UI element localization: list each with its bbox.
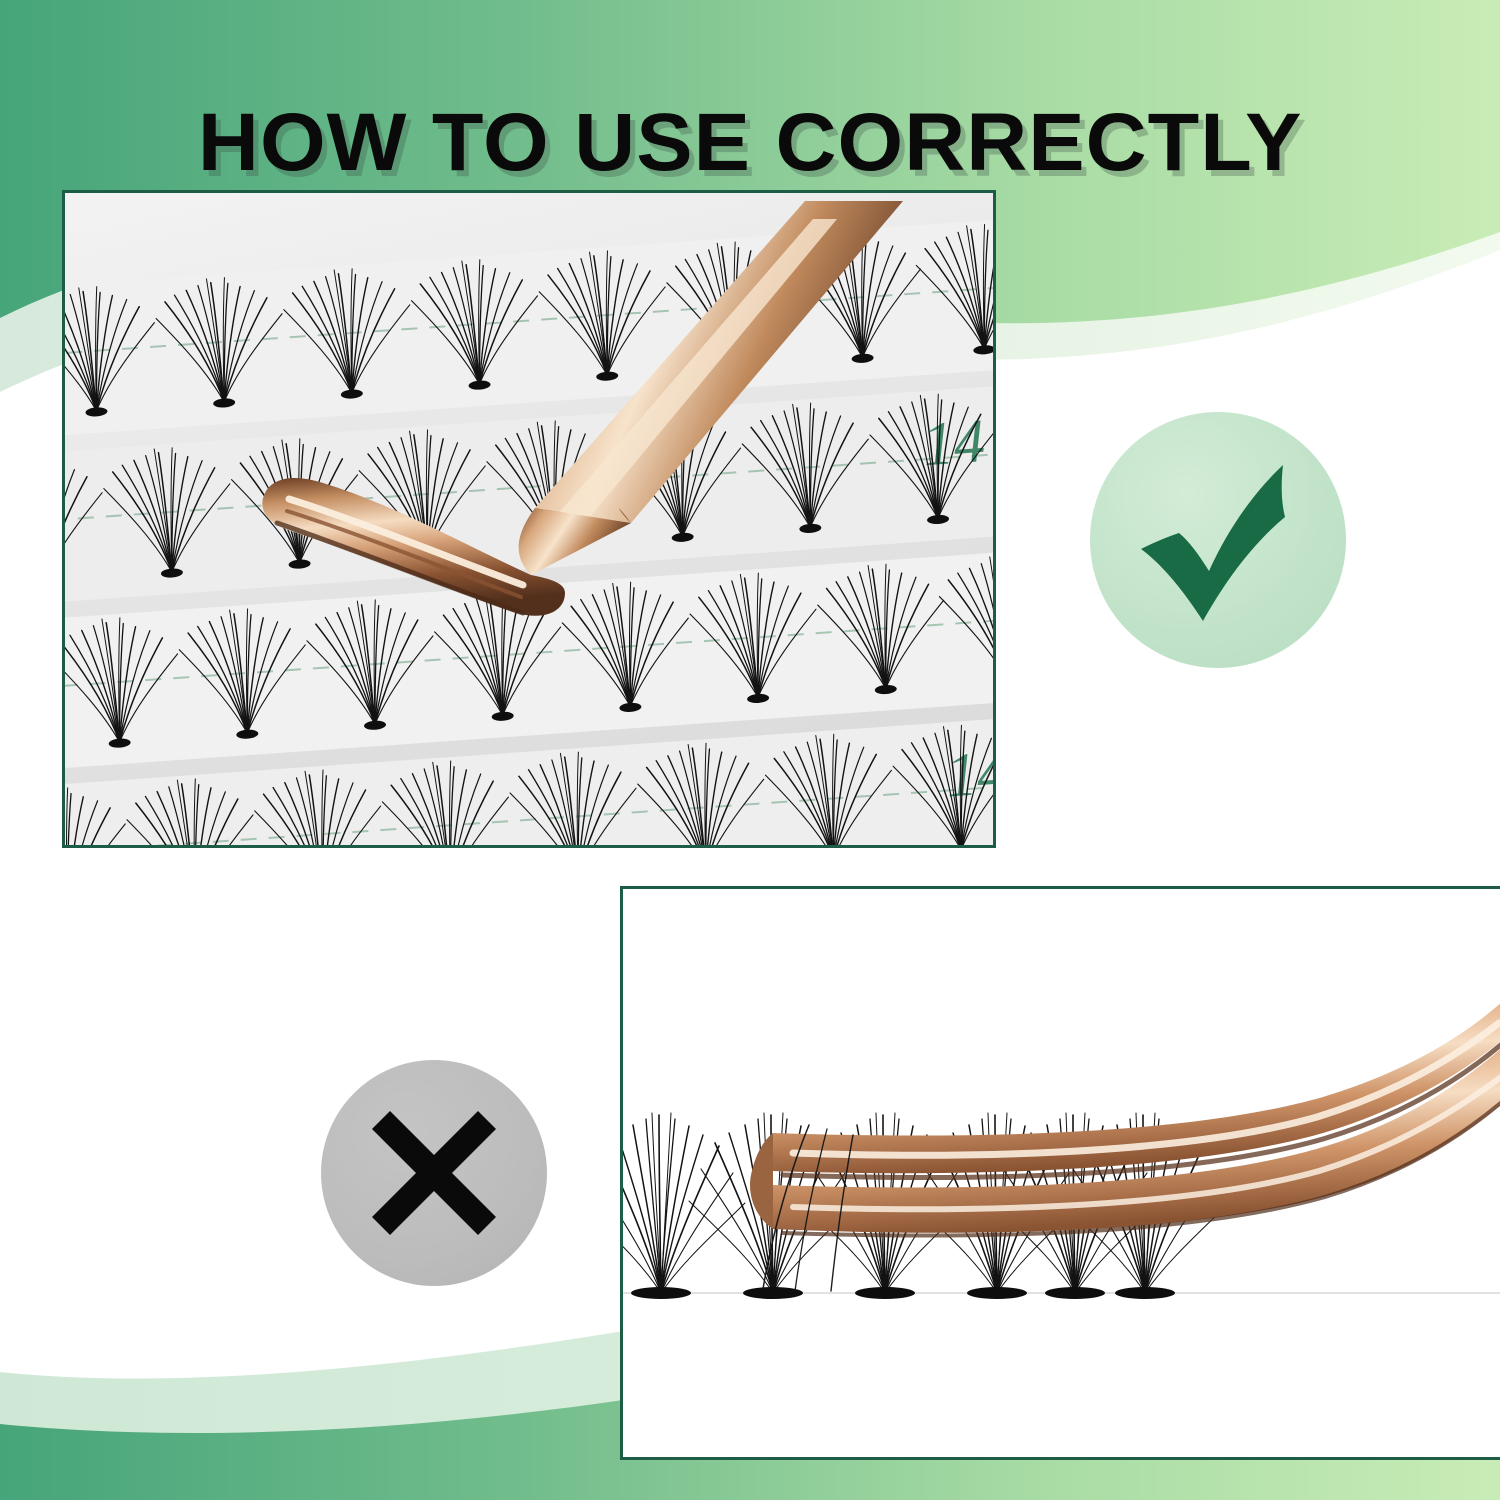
status-badge-correct: Correct bbox=[1090, 412, 1346, 668]
correct-method-photo: Close-up top view of a lash cluster tray… bbox=[62, 190, 996, 848]
correct-photo-illustration: 14 14 bbox=[65, 193, 993, 845]
infographic-canvas: HOW TO USE CORRECTLY Close-up top view o… bbox=[0, 0, 1500, 1500]
page-title: HOW TO USE CORRECTLY bbox=[198, 101, 1303, 185]
check-icon bbox=[1123, 445, 1313, 635]
page-title-wrapper: HOW TO USE CORRECTLY bbox=[0, 46, 1500, 240]
incorrect-photo-illustration bbox=[623, 889, 1500, 1457]
incorrect-method-photo: Side view of lash clusters standing on a… bbox=[620, 886, 1500, 1460]
cross-icon bbox=[366, 1105, 502, 1241]
status-badge-incorrect: Incorrect bbox=[321, 1060, 547, 1286]
